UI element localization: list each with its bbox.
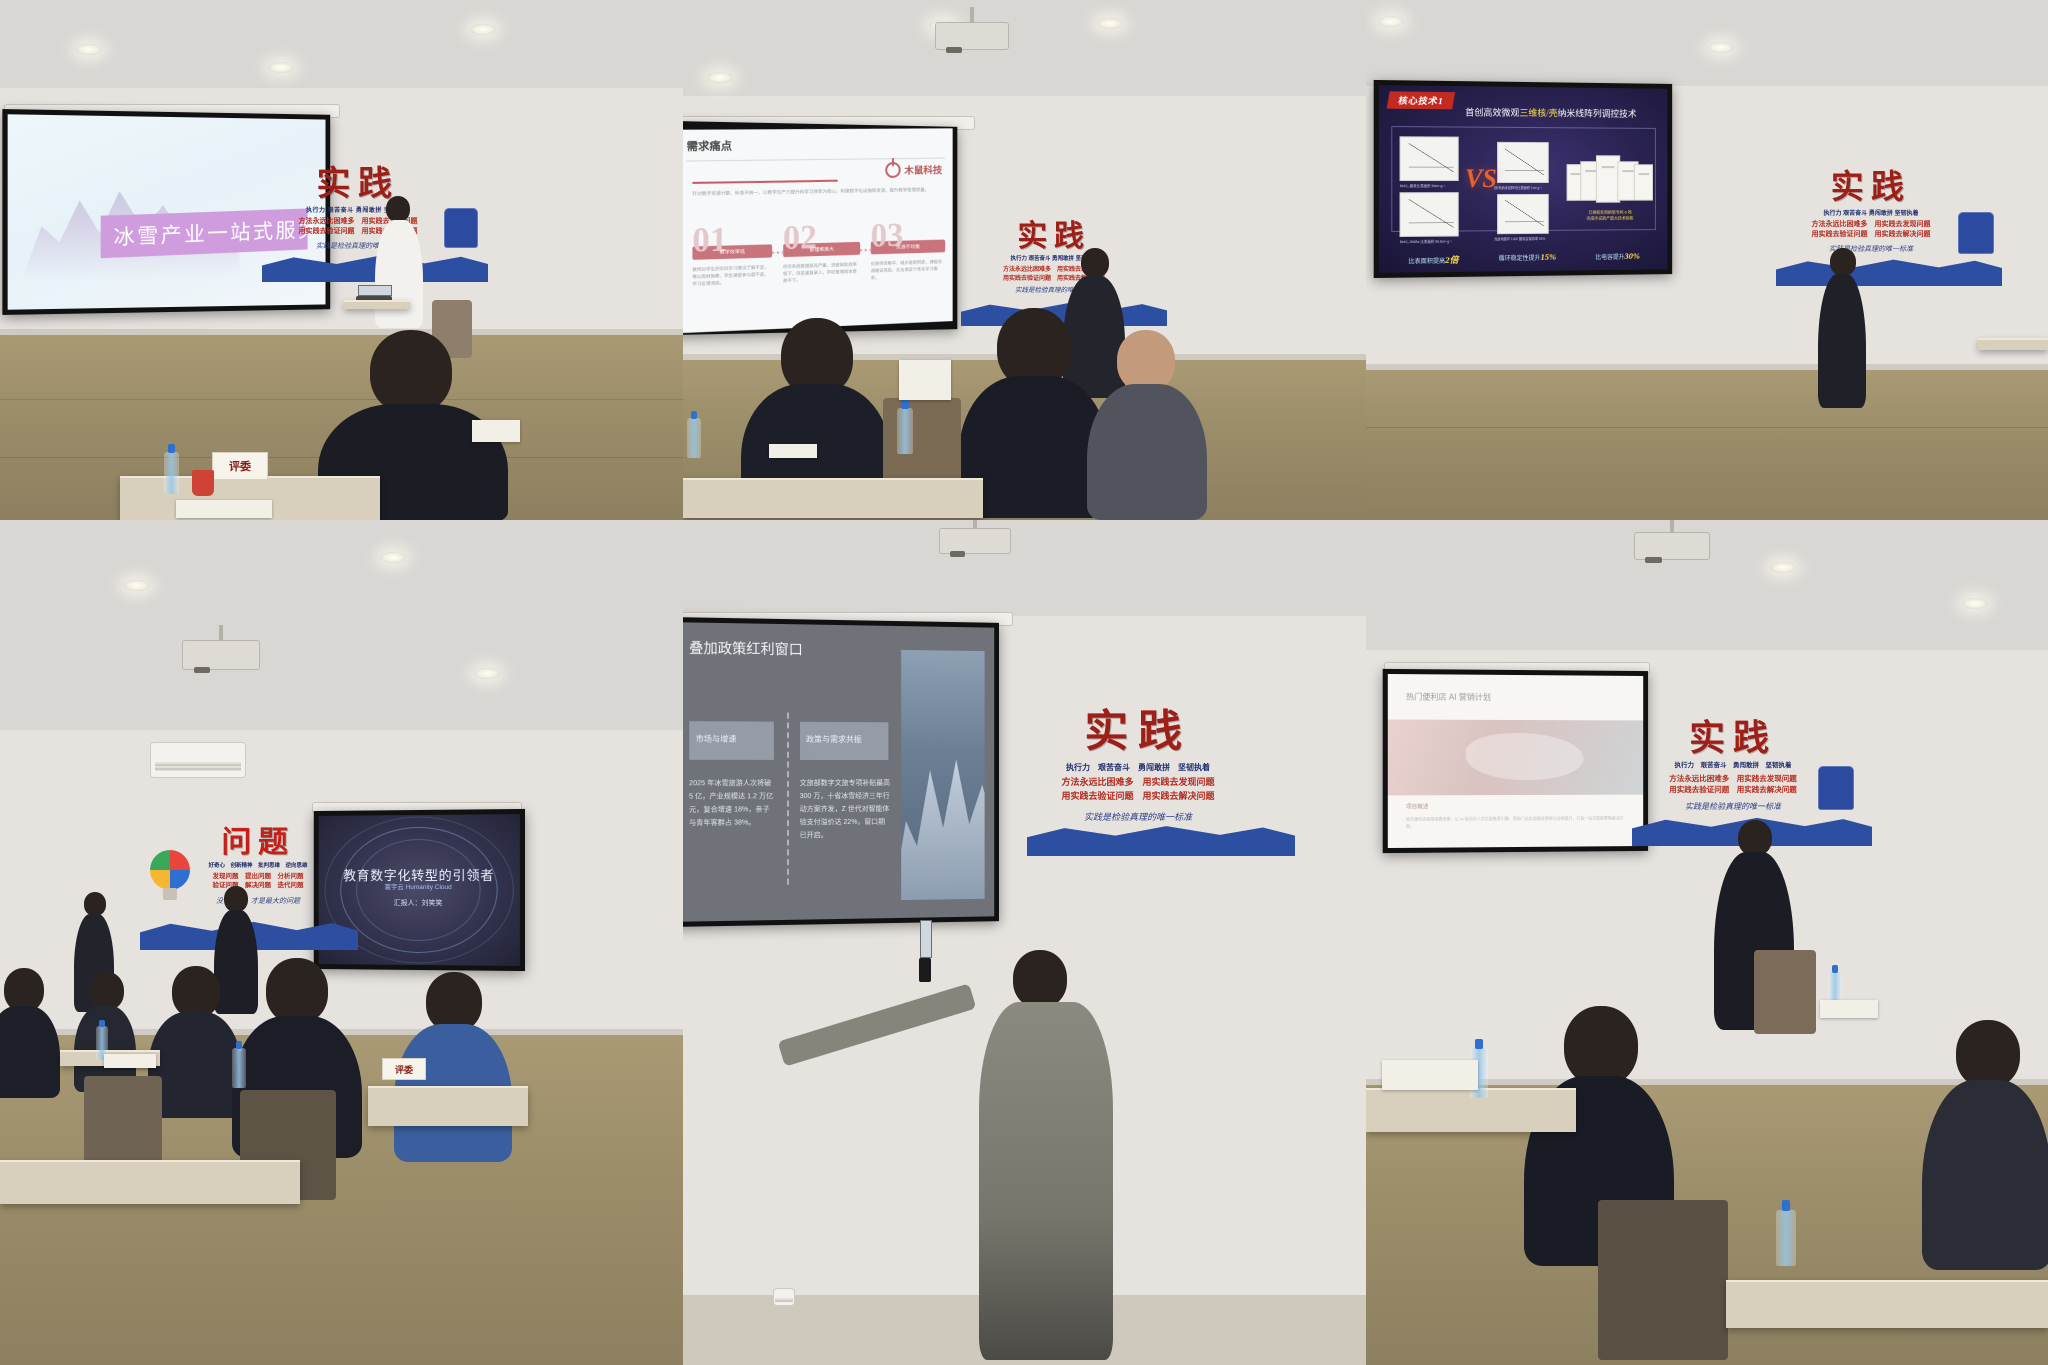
- wall-slogan-headline: 实践: [1638, 720, 1828, 756]
- certificate-note: 已授权实用新型专利 6 项 完成中试转产放大技术验收: [1560, 210, 1659, 222]
- chart-caption: 充放电循环 1000 圈电容保持率 93%: [1494, 236, 1545, 241]
- left-card-body: 2025 年冰雪旅游人次将破 5 亿，产业规模达 1.2 万亿元，复合增速 18…: [689, 778, 774, 831]
- papers[interactable]: [1382, 1060, 1478, 1090]
- chart-caption: MnO₂ 最常比表面积 54m²·g⁻¹: [1400, 183, 1446, 188]
- ceiling-downlight: [1770, 562, 1796, 573]
- papers[interactable]: [104, 1054, 156, 1068]
- column-divider: [787, 713, 789, 885]
- presenter-table: [344, 300, 410, 309]
- slide-headline: 首创高效微观三维核/壳纳米线阵列调控技术: [1444, 106, 1656, 120]
- step-text: 校务系统数据孤岛严重，流程审批效率低下，信息重复录入，学校管理成本居高不下。: [783, 261, 860, 285]
- cert-note-line: 完成中试转产放大技术验收: [1560, 216, 1659, 222]
- headline-highlight: 三维核/壳: [1519, 108, 1557, 118]
- wall-slogan-keywords: 执行力 艰苦奋斗 勇闯敢拼 坚韧执着: [1033, 764, 1243, 772]
- audience-head: [1117, 330, 1175, 392]
- step-arrow: ▸▸▸: [860, 246, 875, 253]
- hero-image: [1388, 719, 1643, 796]
- audience-table: [368, 1086, 528, 1126]
- audience-head: [90, 972, 124, 1010]
- ceiling: [1366, 0, 2048, 86]
- audience-body: [0, 1006, 60, 1098]
- water-bottle[interactable]: [897, 408, 913, 454]
- headline-plain: 首创高效微观: [1465, 108, 1519, 119]
- wall-slogan-practice: 实践 执行力 艰苦奋斗 勇闯敢拼 坚韧执着 方法永远比困难多 用实践去发现问题 …: [1782, 172, 1960, 253]
- chair[interactable]: [1754, 950, 1816, 1034]
- slide-rule: [687, 157, 945, 161]
- audience-head: [172, 966, 220, 1018]
- stat-item: 循环稳定性提升15%: [1499, 252, 1557, 266]
- classroom-scene-6: 热门便利店 AI 营销计划 项目概述 依托便利店高频消费场景，以 AI 驱动的人…: [1366, 520, 2048, 1365]
- projection-screen-2[interactable]: 需求痛点 木鼠科技 针对数字资源分散、标准不统一，以教学生产力提升和学习效率为核…: [683, 121, 957, 335]
- ceiling-projector: [935, 22, 1009, 50]
- presenter-body: [375, 220, 423, 328]
- side-table: [1978, 338, 2048, 350]
- wall-slogan-problem: 问题 好奇心 创新精神 批判思维 逆向思维 发现问题 提出问题 分析问题 验证问…: [178, 828, 338, 905]
- step-arrow: ▸▸▸: [772, 249, 787, 256]
- audience-body: [148, 1012, 242, 1118]
- audience-head: [426, 972, 482, 1032]
- presenter: [1816, 248, 1868, 408]
- wall-slogan-headline: 实践: [1782, 172, 1960, 205]
- presenter-head: [224, 886, 248, 912]
- projection-screen-5[interactable]: 叠加政策红利窗口 市场与增速 2025 年冰雪旅游人次将破 5 亿，产业规模达 …: [683, 617, 999, 927]
- ceiling-downlight: [76, 44, 102, 55]
- baseboard: [1366, 364, 2048, 370]
- fist-icon: [1958, 212, 1994, 254]
- wall-slogan-keywords: 好奇心 创新精神 批判思维 逆向思维: [178, 864, 338, 870]
- step-text: 教师对学生的实际学习情况了解不足，难以因材施教，学生课堂参与度不高，学习反馈滞后…: [692, 263, 772, 287]
- chart-caption: 核/壳纳米线阵列比表面积 1m²·g⁻¹: [1494, 185, 1542, 190]
- audience-body: [1922, 1080, 2048, 1270]
- classroom-scene-3: 核心技术1 首创高效微观三维核/壳纳米线阵列调控技术 MnO₂ 最常比表面积 5…: [1366, 0, 2048, 520]
- presenter-head: [386, 196, 410, 222]
- ceiling-downlight: [474, 668, 500, 679]
- audience-member: [1922, 1020, 2048, 1270]
- audience-table: [0, 1160, 300, 1204]
- wall-slogan-headline: 问题: [178, 828, 338, 858]
- classroom-scene-5: 叠加政策红利窗口 市场与增速 2025 年冰雪旅游人次将破 5 亿，产业规模达 …: [683, 520, 1366, 1365]
- slide-title: 热门便利店 AI 营销计划: [1406, 691, 1491, 703]
- panel-top-left: 冰雪产业一站式服务 实践 执行力 艰苦奋斗 勇闯敢拼 坚韧执着 方法永远比困难多…: [0, 0, 683, 520]
- chair[interactable]: [84, 1076, 162, 1172]
- projection-screen-6[interactable]: 热门便利店 AI 营销计划 项目概述 依托便利店高频消费场景，以 AI 驱动的人…: [1383, 669, 1648, 853]
- presenter-body: [1818, 274, 1866, 408]
- stat-label: 比表面积提高: [1408, 259, 1445, 266]
- presenter-pointing: [963, 950, 1123, 1360]
- slide-title: 需求痛点: [687, 137, 732, 154]
- step-column: 02 管理难度大 校务系统数据孤岛严重，流程审批效率低下，信息重复录入，学校管理…: [783, 223, 860, 284]
- chart-thumbnail: [1497, 142, 1549, 183]
- panel-bottom-left: 教育数字化转型的引领者 寰宇云 Humanity Cloud 汇报人：刘笑笑 问…: [0, 520, 683, 1365]
- ceiling-downlight: [1962, 598, 1988, 609]
- presenter-head: [1013, 950, 1067, 1008]
- audience-head: [1956, 1020, 2020, 1088]
- fist-icon: [1818, 766, 1854, 810]
- slide-accent-line: [692, 180, 838, 184]
- audience-member: [0, 968, 60, 1098]
- papers[interactable]: [176, 500, 272, 518]
- wall-slogan-headline: 实践: [1033, 710, 1243, 754]
- wall-slogan-line: 方法永远比困难多 用实践去发现问题: [1638, 775, 1828, 783]
- papers[interactable]: [472, 420, 520, 442]
- wall-slogan-line: 验证问题 解决问题 迭代问题: [178, 883, 338, 890]
- logo-text: 木鼠科技: [904, 162, 942, 177]
- presenter-head: [1081, 248, 1109, 278]
- audience-head: [370, 330, 452, 414]
- judge-nameplate: 评委: [382, 1058, 426, 1080]
- slide-title: 叠加政策红利窗口: [689, 637, 803, 659]
- step-column: 03 资源不均衡 优质师资集中，城乡差距明显，课程资源建设滞后，无法满足个性化学…: [871, 221, 945, 281]
- headline-tail: 纳米线阵列调控技术: [1558, 109, 1637, 120]
- panel-top-right: 核心技术1 首创高效微观三维核/壳纳米线阵列调控技术 MnO₂ 最常比表面积 5…: [1366, 0, 2048, 520]
- water-bottle[interactable]: [1776, 1210, 1796, 1266]
- chart-caption: MnO₂ NWAs 比表面积 96.8m²·g⁻¹: [1400, 238, 1452, 244]
- slide-subtitle: 寰宇云 Humanity Cloud: [319, 881, 520, 891]
- audience-table: [683, 478, 983, 518]
- wall-slogan-practice: 实践 执行力 艰苦奋斗 勇闯敢拼 坚韧执着 方法永远比困难多 用实践去发现问题 …: [1638, 720, 1828, 811]
- judge-nameplate-text: 评委: [229, 458, 251, 474]
- mountain-photo: [901, 649, 985, 900]
- ceiling-projector: [182, 640, 260, 670]
- papers[interactable]: [769, 444, 817, 458]
- wall-slogan-line: 方法永远比困难多 用实践去发现问题: [1033, 778, 1243, 787]
- papers[interactable]: [1820, 1000, 1878, 1018]
- ceiling-downlight: [707, 72, 733, 83]
- audience-table: [1726, 1280, 2048, 1328]
- wall-slogan-practice: 实践 执行力 艰苦奋斗 勇闯敢拼 坚韧执着 方法永远比困难多 用实践去发现问题 …: [1033, 710, 1243, 822]
- water-bottle[interactable]: [687, 418, 701, 458]
- classroom-scene-1: 冰雪产业一站式服务 实践 执行力 艰苦奋斗 勇闯敢拼 坚韧执着 方法永远比困难多…: [0, 0, 683, 520]
- stat-value: 2倍: [1445, 255, 1458, 265]
- ceiling-projector: [939, 528, 1011, 554]
- ceiling-downlight: [1097, 18, 1123, 29]
- logo-mark-icon: [885, 162, 900, 178]
- right-card-title: 政策与需求共振: [806, 734, 862, 745]
- panel-bottom-middle: 叠加政策红利窗口 市场与增速 2025 年冰雪旅游人次将破 5 亿，产业规模达 …: [683, 520, 1366, 1365]
- ceiling-downlight: [380, 552, 406, 563]
- presenter-head: [84, 892, 106, 916]
- wall-slogan-keywords: 执行力 艰苦奋斗 勇闯敢拼 坚韧执着: [1782, 211, 1960, 217]
- stat-item: 比电容提升30%: [1595, 251, 1640, 264]
- ceiling: [683, 0, 1366, 96]
- audience-member: [1087, 330, 1207, 520]
- judge-nameplate: 评委: [212, 452, 268, 480]
- chair[interactable]: [1598, 1200, 1728, 1360]
- presenter-head: [1830, 248, 1856, 276]
- audience-body: [1087, 384, 1207, 520]
- projection-screen-3[interactable]: 核心技术1 首创高效微观三维核/壳纳米线阵列调控技术 MnO₂ 最常比表面积 5…: [1374, 80, 1672, 278]
- slide-presenter: 汇报人：刘笑笑: [319, 897, 520, 907]
- chart-thumbnail: [1400, 136, 1459, 181]
- wall-slogan-cursive: 实践是检验真理的唯一标准: [1638, 803, 1828, 811]
- ceiling-downlight: [268, 62, 294, 73]
- chart-thumbnail: [1497, 194, 1549, 235]
- ceiling: [683, 520, 1366, 616]
- photo-collage: 冰雪产业一站式服务 实践 执行力 艰苦奋斗 勇闯敢拼 坚韧执着 方法永远比困难多…: [0, 0, 2048, 1365]
- ceiling-downlight: [1708, 42, 1734, 53]
- slide-pain-points: 需求痛点 木鼠科技 针对数字资源分散、标准不统一，以教学生产力提升和学习效率为核…: [683, 128, 953, 333]
- papers[interactable]: [899, 360, 951, 400]
- clicker[interactable]: [919, 958, 931, 982]
- wall-slogan-line: 方法永远比困难多 用实践去发现问题: [1782, 221, 1960, 228]
- ceiling: [0, 520, 683, 730]
- presenter-body: [979, 1002, 1113, 1360]
- ceiling: [0, 0, 683, 88]
- ceiling-downlight: [124, 580, 150, 591]
- presenter-head: [1738, 820, 1772, 856]
- wall-slogan-line: 用实践去验证问题 用实践去解决问题: [1782, 231, 1960, 238]
- slide-policy-window: 叠加政策红利窗口 市场与增速 2025 年冰雪旅游人次将破 5 亿，产业规模达 …: [683, 622, 994, 922]
- red-cup[interactable]: [192, 470, 214, 496]
- ceiling-downlight: [470, 24, 496, 35]
- wall-slogan-line: 用实践去验证问题 用实践去解决问题: [1033, 792, 1243, 801]
- ceiling-projector: [1634, 532, 1710, 560]
- stat-label: 循环稳定性提升: [1499, 256, 1541, 262]
- certificate-thumb: [1634, 164, 1654, 200]
- stat-value: 15%: [1540, 252, 1556, 262]
- audience-member: [148, 966, 242, 1118]
- air-conditioner: [150, 742, 246, 778]
- wall-slogan-cursive: 没有问题，才是最大的问题: [178, 898, 338, 905]
- slide-stats: 比表面积提高2倍 循环稳定性提升15% 比电容提升30%: [1388, 251, 1659, 267]
- power-outlet: [773, 1288, 795, 1306]
- audience-head: [266, 958, 328, 1024]
- floor-seam: [1366, 427, 2048, 428]
- fist-icon: [444, 208, 478, 248]
- wall-slogan-cursive: 实践是检验真理的唯一标准: [1033, 813, 1243, 822]
- slide-section: 项目概述: [1406, 803, 1428, 811]
- wall-slogan-keywords: 执行力 艰苦奋斗 勇闯敢拼 坚韧执着: [1638, 763, 1828, 770]
- wall-slogan-cursive: 实践是检验真理的唯一标准: [1782, 246, 1960, 253]
- stat-label: 比电容提升: [1595, 255, 1624, 261]
- floor: [1366, 370, 2048, 520]
- vs-label: VS: [1465, 164, 1497, 194]
- slide-paragraph: 针对数字资源分散、标准不统一，以教学生产力提升和学习效率为核心，构建数字化设施和…: [692, 186, 939, 198]
- ceiling-downlight: [1378, 16, 1404, 27]
- lightbulb-icon: [150, 850, 190, 890]
- stat-value: 30%: [1625, 251, 1640, 261]
- wall-slogan-line: 用实践去验证问题 用实践去解决问题: [1638, 786, 1828, 794]
- slide-core-technology: 核心技术1 首创高效微观三维核/壳纳米线阵列调控技术 MnO₂ 最常比表面积 5…: [1379, 85, 1668, 273]
- slide-body: 依托便利店高频消费场景，以 AI 驱动的人货匹配推荐引擎，帮助门店实现精准营销与…: [1406, 815, 1626, 830]
- company-logo: 木鼠科技: [885, 161, 942, 177]
- left-card-title: 市场与增速: [696, 733, 737, 744]
- judge-nameplate-text: 评委: [395, 1063, 413, 1076]
- panel-top-middle: 需求痛点 木鼠科技 针对数字资源分散、标准不统一，以教学生产力提升和学习效率为核…: [683, 0, 1366, 520]
- water-bottle[interactable]: [232, 1048, 246, 1088]
- classroom-scene-4: 教育数字化转型的引领者 寰宇云 Humanity Cloud 汇报人：刘笑笑 问…: [0, 520, 683, 1365]
- classroom-scene-2: 需求痛点 木鼠科技 针对数字资源分散、标准不统一，以教学生产力提升和学习效率为核…: [683, 0, 1366, 520]
- slide-ai-marketing: 热门便利店 AI 营销计划 项目概述 依托便利店高频消费场景，以 AI 驱动的人…: [1388, 674, 1643, 848]
- step-column: 01 教学效率低 教师对学生的实际学习情况了解不足，难以因材施教，学生课堂参与度…: [692, 225, 772, 287]
- panel-bottom-right: 热门便利店 AI 营销计划 项目概述 依托便利店高频消费场景，以 AI 驱动的人…: [1366, 520, 2048, 1365]
- audience-head: [1564, 1006, 1638, 1086]
- water-bottle[interactable]: [164, 452, 179, 494]
- step-text: 优质师资集中，城乡差距明显，课程资源建设滞后，无法满足个性化学习需求。: [871, 258, 945, 281]
- stat-item: 比表面积提高2倍: [1408, 253, 1458, 267]
- right-card-body: 文旅部数字文旅专项补贴最高 300 万，十省冰雪经济三年行动方案齐发，Z 世代对…: [800, 778, 892, 843]
- chart-thumbnail: [1400, 192, 1459, 237]
- wall-slogan-line: 发现问题 提出问题 分析问题: [178, 874, 338, 881]
